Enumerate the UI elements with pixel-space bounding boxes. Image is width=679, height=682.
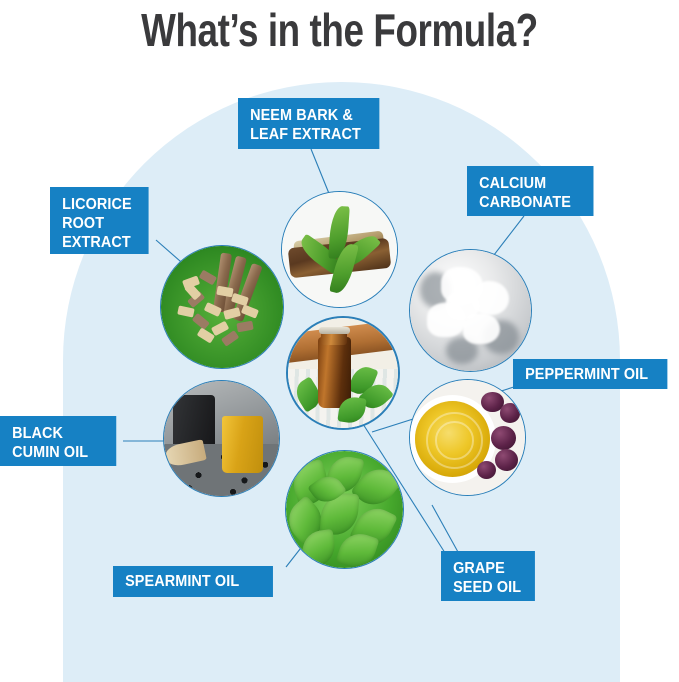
label-licorice-root-extract[interactable]: LICORICE ROOT EXTRACT (50, 187, 149, 254)
ingredient-circle-black-cumin[interactable] (163, 380, 280, 497)
ingredient-circle-calcium[interactable] (409, 249, 532, 372)
black-cumin-photo (164, 381, 279, 496)
formula-bottle-photo (288, 318, 398, 428)
label-peppermint-oil[interactable]: PEPPERMINT OIL (513, 359, 667, 389)
label-calcium-carbonate[interactable]: CALCIUM CARBONATE (467, 166, 593, 216)
infographic-root: What’s in the Formula? (0, 0, 679, 682)
ingredient-circle-spearmint[interactable] (285, 450, 404, 569)
neem-photo (282, 192, 397, 307)
ingredient-circle-licorice[interactable] (160, 245, 284, 369)
licorice-photo (161, 246, 283, 368)
label-spearmint-oil[interactable]: SPEARMINT OIL (113, 566, 273, 597)
center-formula-circle[interactable] (286, 316, 400, 430)
label-neem-bark-leaf-extract[interactable]: NEEM BARK & LEAF EXTRACT (238, 98, 379, 149)
label-grape-seed-oil[interactable]: GRAPE SEED OIL (441, 551, 535, 601)
grape-seed-photo (410, 380, 525, 495)
ingredient-circle-neem[interactable] (281, 191, 398, 308)
label-black-cumin-oil[interactable]: BLACK CUMIN OIL (0, 416, 116, 466)
spearmint-photo (286, 451, 403, 568)
ingredient-circle-grape-seed[interactable] (409, 379, 526, 496)
calcium-photo (410, 250, 531, 371)
